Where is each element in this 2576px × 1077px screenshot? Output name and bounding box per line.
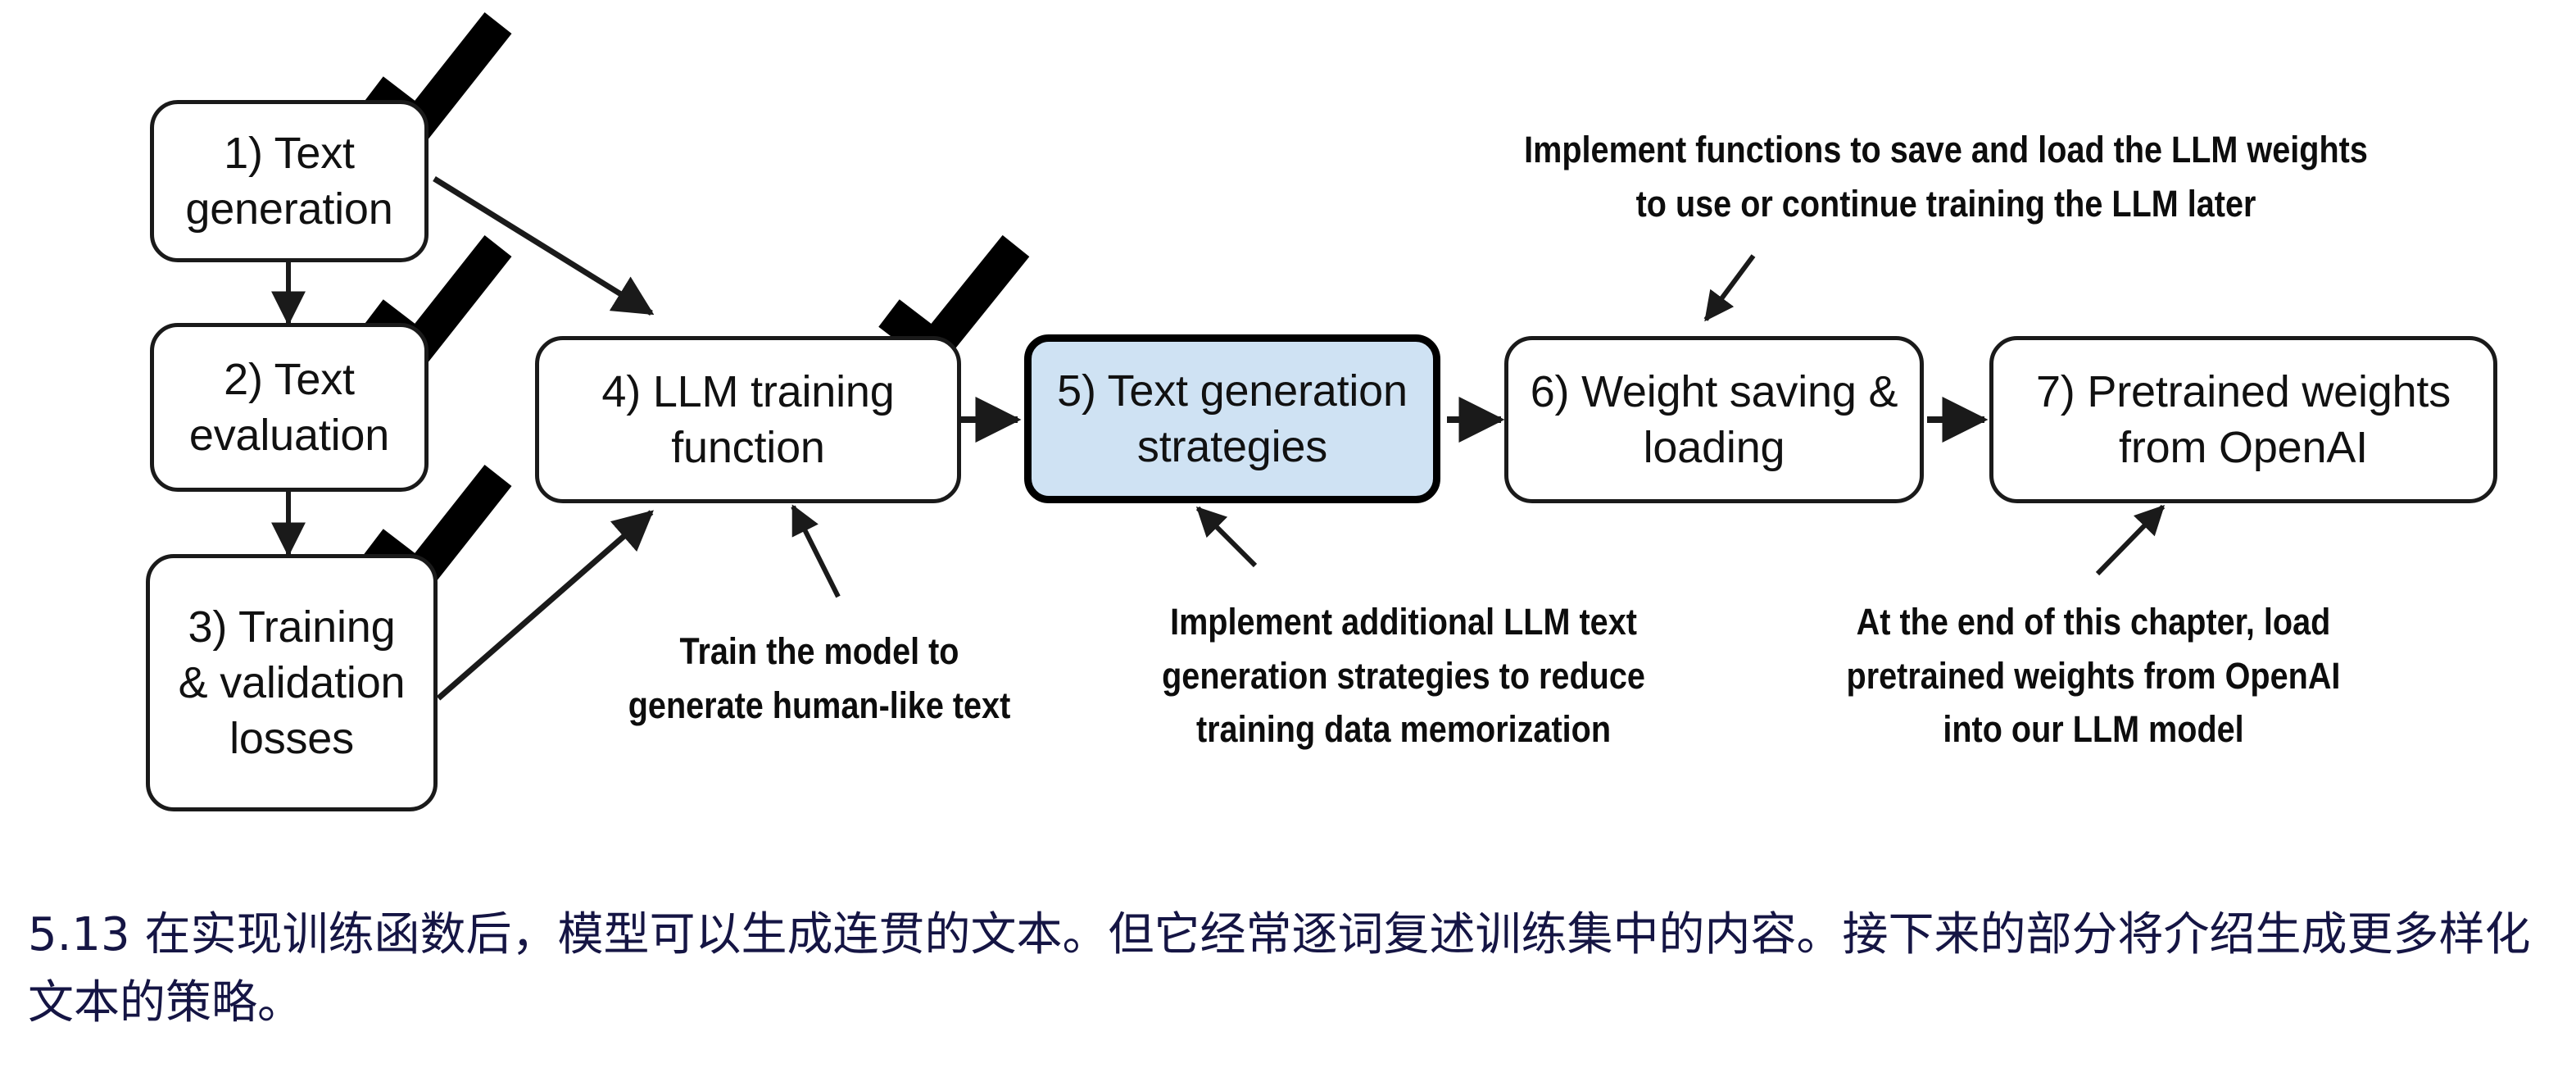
node-text-generation[interactable]: 1) Text generation xyxy=(150,100,429,262)
leader-a7-n7 xyxy=(2098,507,2163,574)
node-llm-training-function[interactable]: 4) LLM training function xyxy=(535,336,961,503)
annotation-train-model: Train the model to generate human-like t… xyxy=(596,625,1043,732)
node-text-evaluation[interactable]: 2) Text evaluation xyxy=(150,323,429,492)
leader-a5-n5 xyxy=(1198,508,1255,566)
node-text-generation-strategies[interactable]: 5) Text generation strategies xyxy=(1024,334,1440,503)
figure-root: 1) Text generation 2) Text evaluation 3)… xyxy=(0,0,2576,1077)
checkmark-icon-n4 xyxy=(889,246,1016,348)
annotation-generation-strategies: Implement additional LLM text generation… xyxy=(1141,595,1667,757)
leader-a4-n4 xyxy=(793,507,838,597)
annotation-save-load-weights: Implement functions to save and load the… xyxy=(1474,123,2419,230)
figure-caption: 5.13 在实现训练函数后，模型可以生成连贯的文本。但它经常逐词复述训练集中的内… xyxy=(28,902,2560,1038)
leader-a6-n6 xyxy=(1706,256,1753,320)
annotation-load-openai-weights: At the end of this chapter, load pretrai… xyxy=(1830,595,2356,757)
node-weight-saving-loading[interactable]: 6) Weight saving & loading xyxy=(1504,336,1924,503)
node-training-validation-losses[interactable]: 3) Training & validation losses xyxy=(146,554,438,811)
node-pretrained-weights-openai[interactable]: 7) Pretrained weights from OpenAI xyxy=(1989,336,2497,503)
